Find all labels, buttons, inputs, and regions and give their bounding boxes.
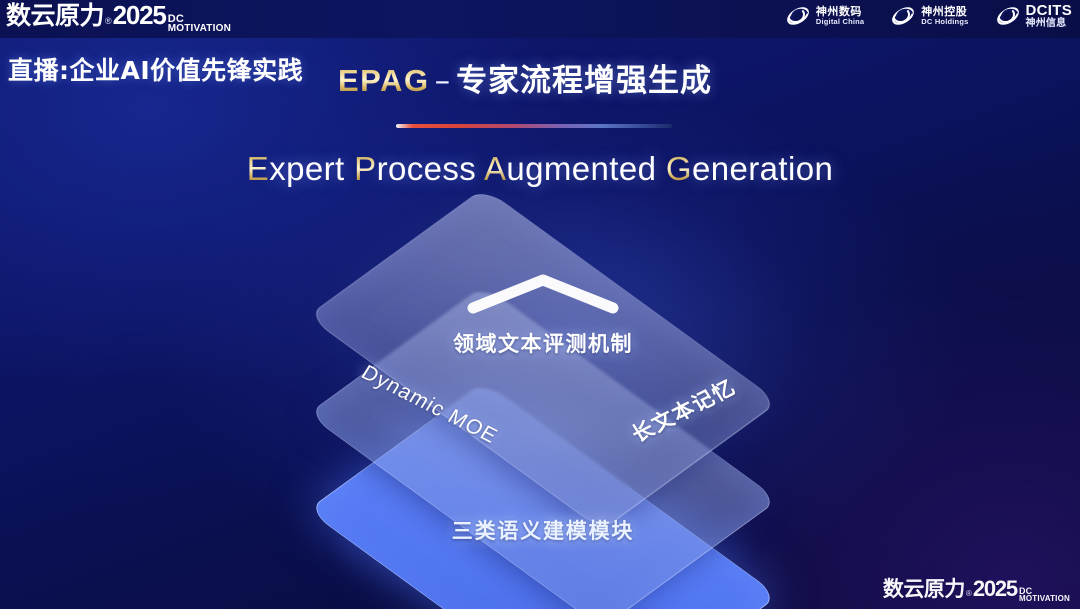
subtitle-cap-g: G xyxy=(666,150,692,187)
title-dash: – xyxy=(435,63,452,99)
watermark-registered-mark: ® xyxy=(966,589,972,598)
partner-name-en: 神州信息 xyxy=(1026,19,1073,30)
watermark-dc-motivation: DC MOTIVATION xyxy=(1019,587,1070,603)
brand-logo: 数云原力 ® 2025 DC MOTIVATION xyxy=(6,2,231,36)
subtitle-cap-e: E xyxy=(247,150,269,187)
layered-architecture-diagram: 领域文本评测机制 Dynamic MOE 长文本记忆 三类语义建模模块 xyxy=(293,225,793,590)
partner-name-en: Digital China xyxy=(816,18,864,26)
partner-logo-dc-holdings: 神州控股 DC Holdings xyxy=(890,3,968,29)
live-broadcast-title: 直播:企业AI价值先锋实践 xyxy=(8,51,303,87)
watermark-year: 2025 xyxy=(973,578,1017,600)
subtitle-word-augmented: ugmented xyxy=(506,150,656,187)
gradient-divider xyxy=(396,124,672,128)
title-chinese: 专家流程增强生成 xyxy=(456,63,712,99)
brand-registered-mark: ® xyxy=(105,16,112,26)
top-layer-label: 领域文本评测机制 xyxy=(453,328,633,358)
brand-dc-motivation: DC MOTIVATION xyxy=(168,14,231,34)
title-acronym: EPAG xyxy=(338,63,430,98)
partner-text: DCITS 神州信息 xyxy=(1026,3,1073,29)
subtitle-cap-a: A xyxy=(484,150,506,187)
partner-name-cn: DCITS xyxy=(1026,3,1073,19)
brand-motivation-text: MOTIVATION xyxy=(168,24,231,34)
footer-watermark: 数云原力 ® 2025 DC MOTIVATION xyxy=(883,578,1070,605)
partner-logos: 神州数码 Digital China 神州控股 DC Holdings xyxy=(785,3,1072,29)
watermark-name-cn: 数云原力 xyxy=(883,579,965,600)
partner-name-en: DC Holdings xyxy=(921,18,968,26)
subtitle-word-process: rocess xyxy=(377,150,477,187)
presentation-slide: 数云原力 ® 2025 DC MOTIVATION 神州数码 Digital C… xyxy=(0,0,1080,609)
swirl-icon xyxy=(995,3,1021,29)
brand-year: 2025 xyxy=(113,2,166,28)
partner-text: 神州控股 DC Holdings xyxy=(921,6,968,25)
bottom-layer-label: 三类语义建模模块 xyxy=(452,515,634,545)
partner-text: 神州数码 Digital China xyxy=(816,6,864,25)
page-title: EPAG–专家流程增强生成 xyxy=(338,55,712,100)
brand-name-cn: 数云原力 xyxy=(6,3,104,28)
chevron-up-icon xyxy=(463,270,623,316)
subtitle-word-generation: eneration xyxy=(692,150,833,187)
watermark-motivation-text: MOTIVATION xyxy=(1019,595,1070,603)
partner-logo-dcits: DCITS 神州信息 xyxy=(995,3,1073,29)
english-subtitle: Expert Process Augmented Generation xyxy=(0,150,1080,188)
subtitle-word-expert: xpert xyxy=(269,150,344,187)
subtitle-cap-p: P xyxy=(354,150,376,187)
partner-logo-digital-china: 神州数码 Digital China xyxy=(785,3,864,29)
swirl-icon xyxy=(890,3,916,29)
swirl-icon xyxy=(785,3,811,29)
